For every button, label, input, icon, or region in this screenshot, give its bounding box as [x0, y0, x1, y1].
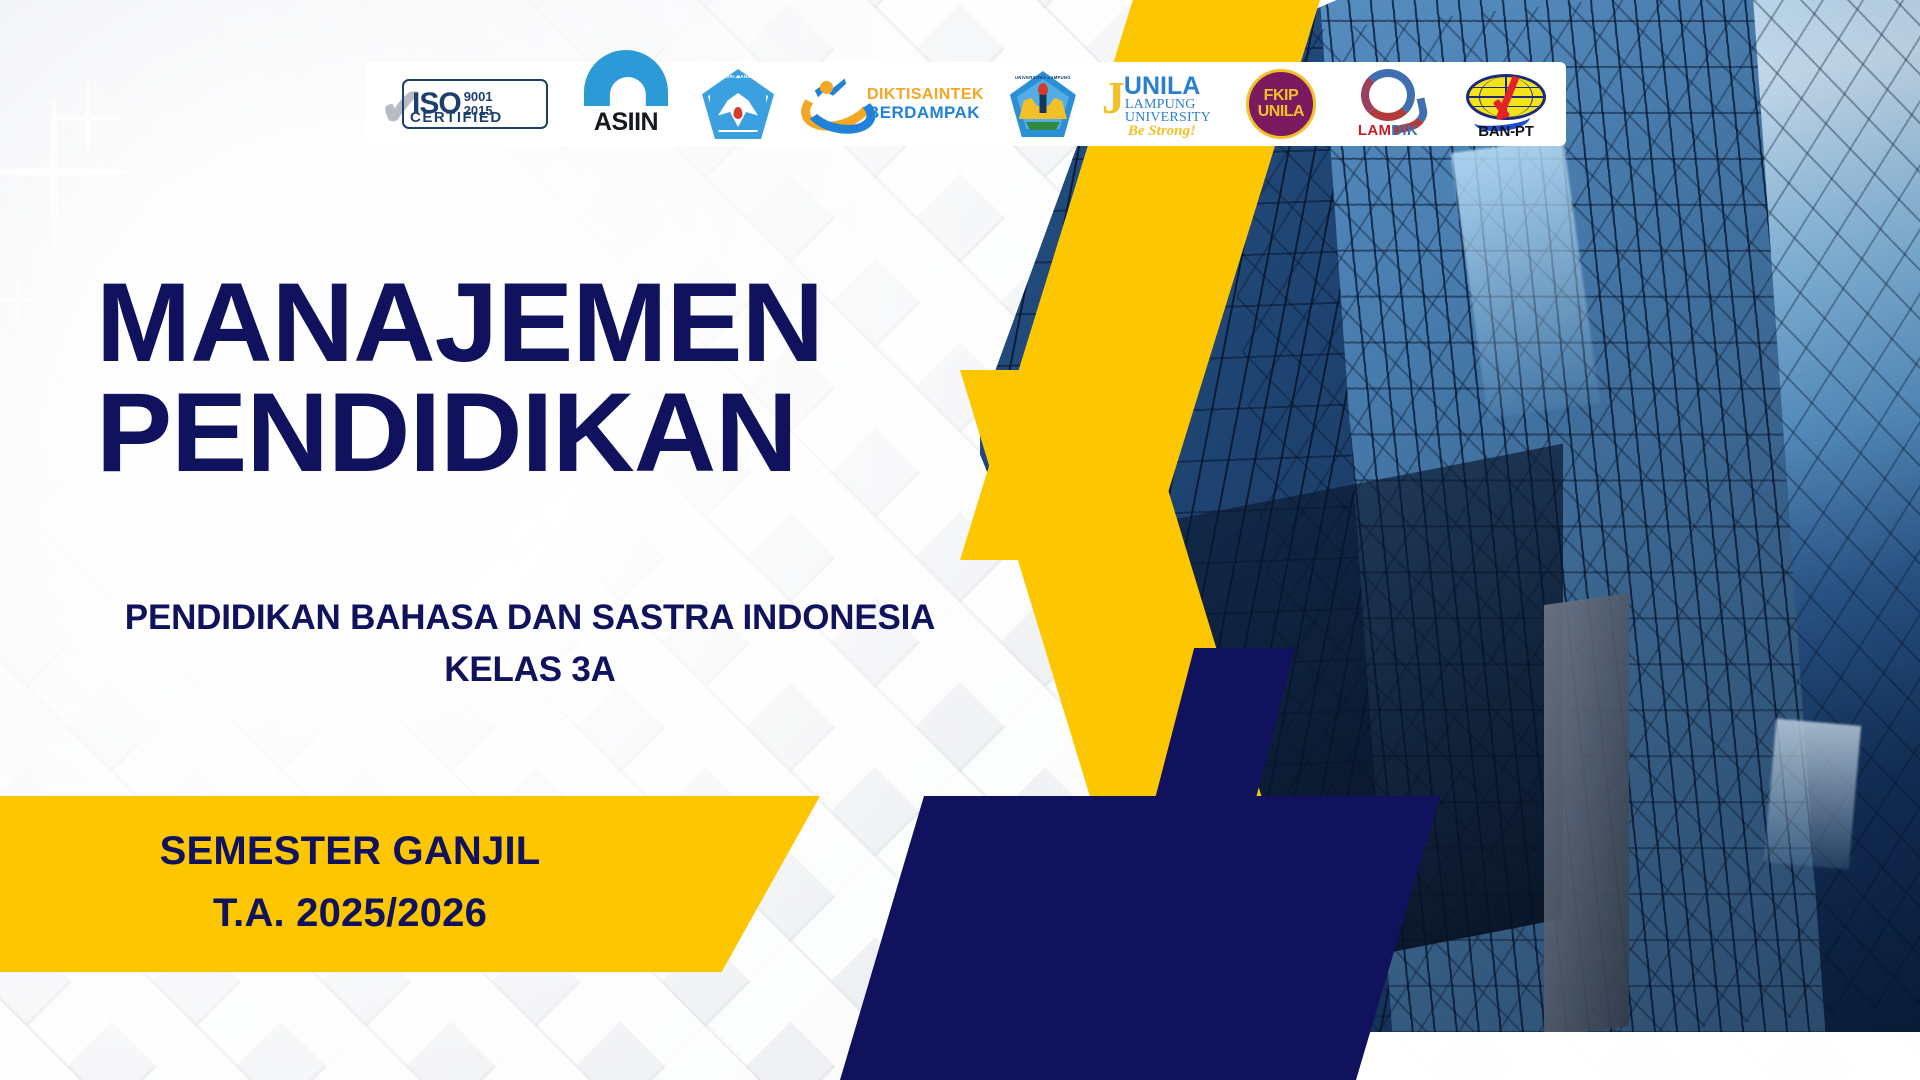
tut-wuri-handayani-logo: TUT WURI HANDAYANI — [702, 68, 774, 140]
iso-9001-certified-logo: ✔ ISO 9001 2015 CERTIFIED — [380, 73, 550, 135]
fkip-line1: FKIP — [1264, 88, 1298, 104]
person-head-icon — [820, 81, 833, 94]
presentation-slide: ✔ ISO 9001 2015 CERTIFIED ASIIN TUT WURI… — [0, 0, 1920, 1080]
banner-line-2: T.A. 2025/2026 — [0, 882, 700, 944]
asiin-arch-icon — [594, 72, 658, 106]
navy-bottom-parallelogram — [840, 796, 1440, 1080]
lamdik-dik: DIK — [1391, 122, 1418, 139]
semester-banner-text: SEMESTER GANJIL T.A. 2025/2026 — [0, 820, 700, 944]
fkip-line2: UNILA — [1258, 104, 1304, 121]
unila-wordmark-logo: J UNILA LAMPUNG UNIVERSITY Be Strong! — [1102, 68, 1220, 140]
ban-pt-logo: BAN-PT — [1460, 68, 1552, 140]
diktisaintek-line2: BERDAMPAK — [867, 103, 984, 122]
lamdik-label: LAMDIK — [1342, 122, 1434, 139]
asiin-label: ASIIN — [594, 108, 658, 137]
page-title: MANAJEMEN PENDIDIKAN — [96, 268, 953, 488]
diktisaintek-berdampak-logo: DIKTISAINTEK BERDAMPAK — [800, 68, 984, 140]
ban-pt-label: BAN-PT — [1460, 123, 1552, 140]
banner-line-1: SEMESTER GANJIL — [0, 820, 700, 882]
tut-wuri-shield-icon: TUT WURI HANDAYANI — [702, 69, 774, 139]
fkip-circle-badge: FKIP UNILA — [1246, 69, 1316, 139]
ban-pt-mark: BAN-PT — [1460, 69, 1552, 139]
unila-initial: J — [1102, 75, 1125, 121]
universitas-lampung-seal: UNIVERSITAS LAMPUNG — [1010, 68, 1076, 140]
seal-ring-text: UNIVERSITAS LAMPUNG — [1010, 75, 1076, 80]
diktisaintek-swoosh-icon — [800, 75, 860, 133]
red-check-icon — [1494, 71, 1528, 123]
lamdik-mark: LAMDIK — [1342, 69, 1434, 139]
subtitle-line-1: PENDIDIKAN BAHASA DAN SASTRA INDONESIA — [0, 592, 1060, 644]
asiin-logo: ASIIN — [576, 68, 676, 140]
unila-name: UNILA — [1124, 74, 1200, 99]
unila-tagline: Be Strong! — [1128, 124, 1196, 139]
torch-flame-icon — [1038, 83, 1048, 95]
subtitle: PENDIDIKAN BAHASA DAN SASTRA INDONESIA K… — [0, 592, 1060, 696]
subtitle-line-2: KELAS 3A — [0, 644, 1060, 696]
seal-base-icon — [1026, 122, 1060, 130]
flame-icon — [734, 107, 743, 119]
diktisaintek-line1: DIKTISAINTEK — [867, 86, 984, 104]
accreditation-logo-bar: ✔ ISO 9001 2015 CERTIFIED ASIIN TUT WURI… — [366, 62, 1566, 146]
fkip-unila-logo: FKIP UNILA — [1246, 68, 1316, 140]
lamdik-logo: LAMDIK — [1342, 68, 1434, 140]
unila-seal-icon: UNIVERSITAS LAMPUNG — [1010, 71, 1076, 137]
title-line-1: MANAJEMEN — [96, 260, 823, 385]
lamdik-lam: LAM — [1358, 122, 1391, 139]
iso-certified-label: CERTIFIED — [410, 109, 503, 126]
unila-wordmark: J UNILA LAMPUNG UNIVERSITY Be Strong! — [1102, 69, 1220, 139]
title-line-2: PENDIDIKAN — [96, 378, 953, 488]
